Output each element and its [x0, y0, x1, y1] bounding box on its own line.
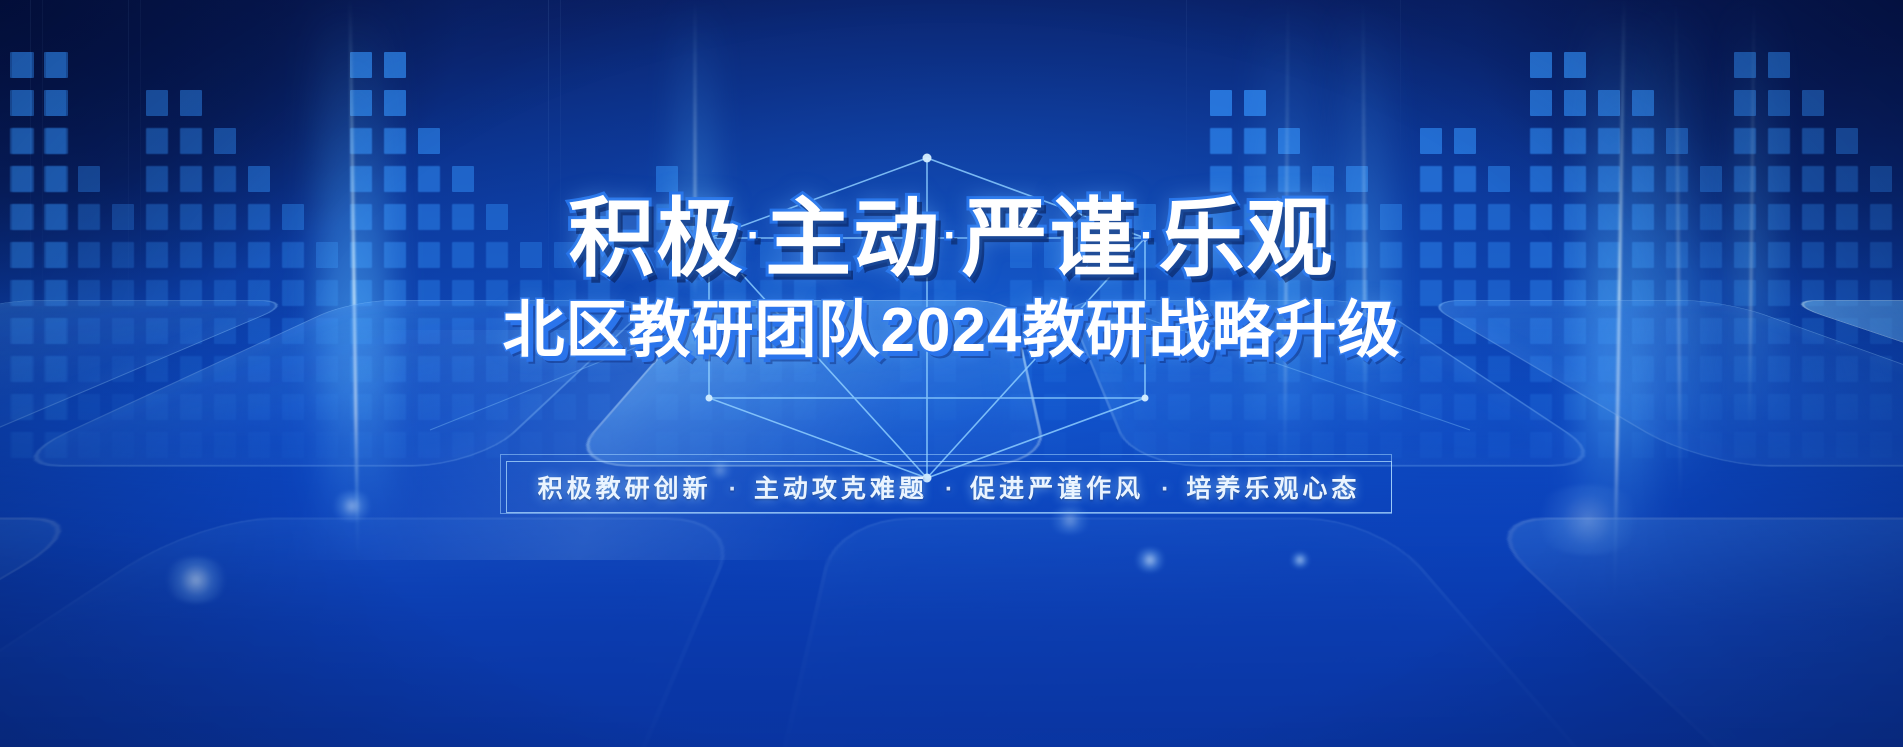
- building-window: [656, 166, 678, 192]
- building-window: [1454, 128, 1476, 154]
- tagline-text: 积极教研创新 · 主动攻克难题 · 促进严谨作风 · 培养乐观心态: [536, 469, 1363, 505]
- building-window: [350, 52, 372, 78]
- building-window: [1802, 90, 1824, 116]
- building-window: [214, 128, 236, 154]
- building-window: [180, 166, 202, 192]
- title-separator-dot: ·: [1138, 211, 1159, 260]
- building-window: [44, 128, 66, 154]
- tagline-separator: ·: [930, 475, 968, 503]
- building-window: [180, 128, 202, 154]
- building-window: [1700, 166, 1722, 192]
- glow-spot: [1133, 548, 1167, 572]
- building-window: [1734, 166, 1756, 192]
- building-window: [1598, 128, 1620, 154]
- building-window: [1420, 166, 1442, 192]
- glow-spot: [1289, 552, 1311, 568]
- building-window: [1632, 128, 1654, 154]
- glow-spot: [330, 491, 374, 521]
- building-window: [1768, 128, 1790, 154]
- building-window: [44, 90, 66, 116]
- building-window: [1564, 90, 1586, 116]
- building-window: [1530, 52, 1552, 78]
- building-window: [1598, 166, 1620, 192]
- main-title: 积极·主动·严谨·乐观: [0, 196, 1903, 282]
- building-window: [452, 166, 474, 192]
- building-window: [1530, 128, 1552, 154]
- building-window: [1564, 128, 1586, 154]
- building-window: [1734, 52, 1756, 78]
- building-window: [146, 128, 168, 154]
- building-window: [10, 90, 32, 116]
- title-separator-dot: ·: [745, 211, 766, 260]
- building-window: [248, 166, 270, 192]
- building-window: [1564, 52, 1586, 78]
- building-window: [418, 128, 440, 154]
- building-window: [350, 166, 372, 192]
- title-word: 严谨: [962, 191, 1138, 287]
- subtitle: 北区教研团队2024教研战略升级: [0, 300, 1903, 362]
- building-window: [10, 128, 32, 154]
- tagline-separator: ·: [714, 475, 752, 503]
- building-window: [10, 166, 32, 192]
- building-window: [1346, 166, 1368, 192]
- building-window: [1454, 166, 1476, 192]
- title-separator-dot: ·: [941, 211, 962, 260]
- building-window: [1244, 90, 1266, 116]
- tagline-segment: 培养乐观心态: [1184, 475, 1362, 503]
- building-window: [1420, 128, 1442, 154]
- building-window: [418, 166, 440, 192]
- building-window: [1530, 166, 1552, 192]
- building-window: [350, 128, 372, 154]
- building-window: [78, 166, 100, 192]
- building-window: [1666, 128, 1688, 154]
- building-window: [146, 166, 168, 192]
- building-window: [1768, 52, 1790, 78]
- floor-tile: [0, 517, 743, 747]
- building-window: [44, 52, 66, 78]
- building-window: [44, 166, 66, 192]
- building-window: [1734, 90, 1756, 116]
- building-window: [1564, 166, 1586, 192]
- building-window: [1802, 166, 1824, 192]
- building-window: [384, 90, 406, 116]
- building-window: [1632, 166, 1654, 192]
- promo-banner: 积极·主动·严谨·乐观 北区教研团队2024教研战略升级 积极教研创新 · 主动…: [0, 0, 1903, 747]
- building-window: [214, 166, 236, 192]
- title-word: 积极: [569, 191, 745, 287]
- tagline-separator: ·: [1146, 475, 1184, 503]
- building-window: [1278, 128, 1300, 154]
- building-window: [1598, 90, 1620, 116]
- building-window: [1530, 90, 1552, 116]
- building-window: [146, 90, 168, 116]
- title-word: 乐观: [1158, 191, 1334, 287]
- building-window: [1278, 166, 1300, 192]
- building-window: [1210, 166, 1232, 192]
- hairline: [1186, 0, 1187, 190]
- tagline-segment: 积极教研创新: [536, 475, 714, 503]
- building-window: [1244, 166, 1266, 192]
- building-window: [10, 52, 32, 78]
- building-window: [1836, 128, 1858, 154]
- building-window: [1802, 128, 1824, 154]
- building-window: [1836, 166, 1858, 192]
- building-window: [1734, 128, 1756, 154]
- building-window: [1666, 166, 1688, 192]
- building-window: [1210, 90, 1232, 116]
- building-window: [350, 90, 372, 116]
- building-window: [384, 166, 406, 192]
- title-word: 主动: [765, 191, 941, 287]
- hairline: [1400, 0, 1401, 160]
- glow-spot: [161, 557, 231, 603]
- glow-spot: [1528, 485, 1648, 555]
- building-window: [1870, 166, 1892, 192]
- headline-group: 积极·主动·严谨·乐观 北区教研团队2024教研战略升级: [0, 196, 1903, 362]
- tagline-inner-frame: 积极教研创新 · 主动攻克难题 · 促进严谨作风 · 培养乐观心态: [506, 461, 1392, 513]
- building-window: [384, 128, 406, 154]
- building-window: [1632, 90, 1654, 116]
- building-window: [1768, 90, 1790, 116]
- tagline-segment: 促进严谨作风: [968, 475, 1146, 503]
- building-window: [384, 52, 406, 78]
- building-window: [1312, 166, 1334, 192]
- building-window: [1210, 128, 1232, 154]
- tagline-segment: 主动攻克难题: [752, 475, 930, 503]
- building-window: [1488, 166, 1510, 192]
- building-window: [1768, 166, 1790, 192]
- building-window: [180, 90, 202, 116]
- building-window: [1244, 128, 1266, 154]
